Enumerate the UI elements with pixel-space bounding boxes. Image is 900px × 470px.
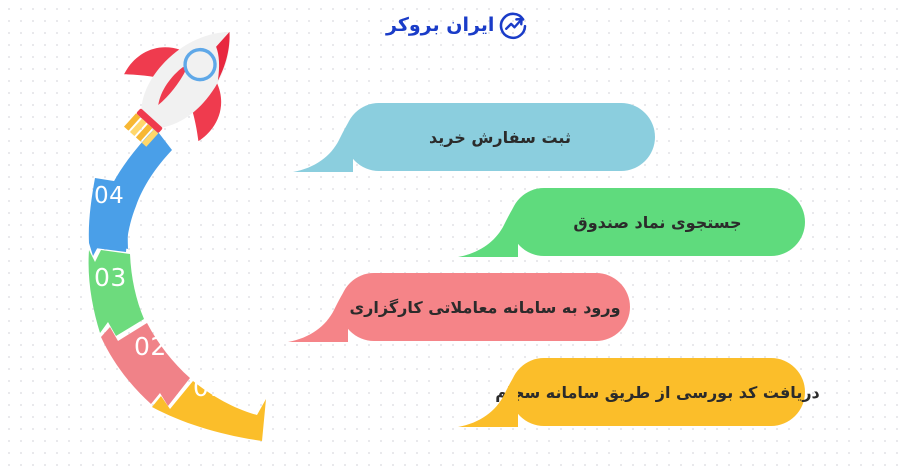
infographic-canvas: ایران بروکر (0, 0, 900, 470)
bubble-tail-icon (288, 286, 348, 342)
step-label-03: جستجوی نماد صندوق (573, 213, 741, 232)
rocket-icon (97, 0, 268, 171)
step-label-02: ورود به سامانه معاملاتی کارگزاری (350, 298, 621, 317)
step-number-03: 03 (94, 265, 127, 290)
brand-logo: ایران بروکر (386, 6, 528, 44)
step-bubble-02: ورود به سامانه معاملاتی کارگزاری (340, 273, 630, 341)
bubble-tail-icon (458, 201, 518, 257)
step-number-01: 01 (193, 375, 226, 400)
step-label-01: دریافت کد بورسی از طریق سامانه سجام (495, 383, 820, 402)
step-bubble-04: ثبت سفارش خرید (345, 103, 655, 171)
step-number-02: 02 (134, 334, 167, 359)
brand-name: ایران بروکر (386, 16, 494, 35)
bubble-tail-icon (293, 116, 353, 172)
step-bubble-03: جستجوی نماد صندوق (510, 188, 805, 256)
step-number-04: 04 (94, 185, 124, 208)
step-bubble-01: دریافت کد بورسی از طریق سامانه سجام (510, 358, 805, 426)
step-label-04: ثبت سفارش خرید (429, 128, 571, 147)
chart-arrow-circle-icon (498, 10, 528, 40)
